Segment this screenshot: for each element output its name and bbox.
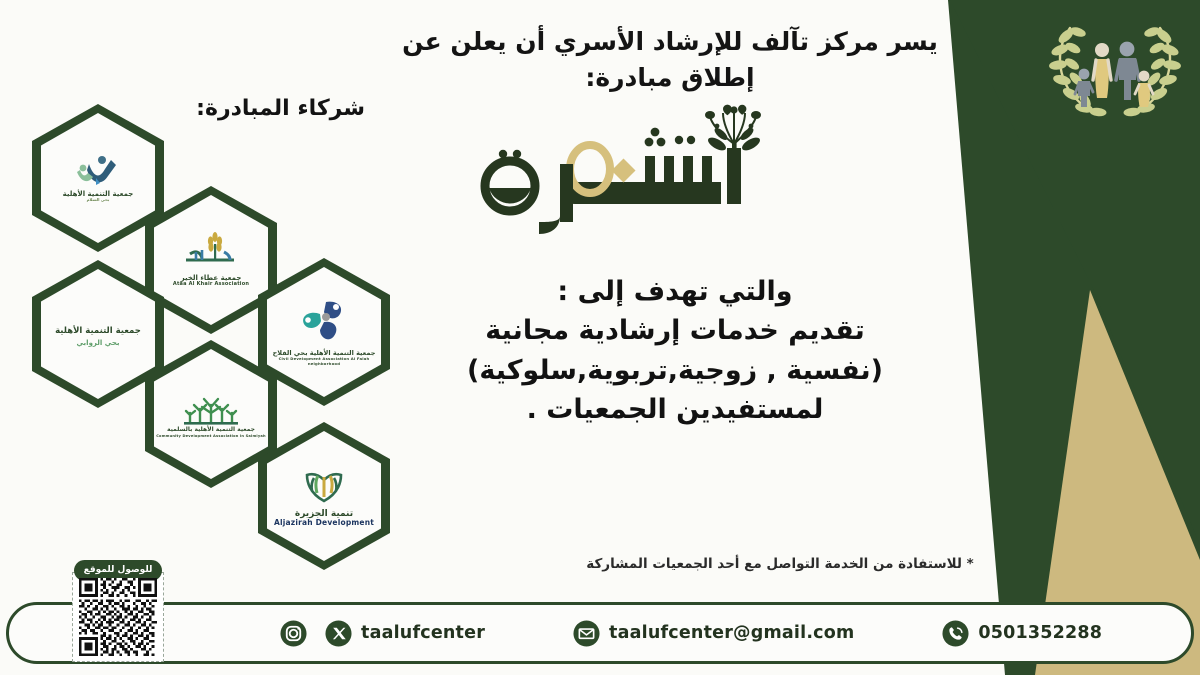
email-address: taalufcenter@gmail.com — [609, 623, 854, 643]
logo-letter-alif — [727, 148, 741, 204]
three-figures-icon — [296, 298, 352, 348]
headline: يسر مركز تآلف للإرشاد الأسري أن يعلن عن … — [380, 24, 960, 95]
body-line-1: والتي تهدف إلى : — [420, 272, 930, 311]
partner-hexagon-ataa-alkhair[interactable]: جمعية عطاء الخير Ataa Al Khair Associati… — [145, 186, 277, 334]
footer-contacts: taalufcenter taalufcenter@gmail.com 0501… — [280, 604, 1110, 662]
qr-code-icon[interactable] — [78, 578, 158, 656]
partner-name: جمعية التنمية الأهلية بالسلمية Community… — [156, 427, 266, 438]
contact-phone[interactable]: 0501352288 — [942, 620, 1102, 647]
instagram-icon — [280, 620, 307, 647]
people-figures-icon — [71, 154, 125, 188]
initiative-logo — [455, 104, 815, 239]
email-icon — [573, 620, 600, 647]
partner-hexagon-jamiyat-tanmiya-ahliya[interactable]: جمعية التنمية الأهلية بحي السلام — [32, 104, 164, 252]
phone-number: 0501352288 — [978, 623, 1102, 643]
family-figures-icon — [1075, 42, 1153, 107]
body-line-2: تقديم خدمات إرشادية مجانية — [420, 311, 930, 350]
partner-hexagon-rawabi[interactable]: جمعية التنمية الأهلية بحي الروابي — [32, 260, 164, 408]
logo-gold-diamond — [611, 158, 635, 182]
logo-ra-tail — [539, 216, 560, 234]
wheat-stalk-icon — [182, 232, 240, 272]
poster-canvas: يسر مركز تآلف للإرشاد الأسري أن يعلن عن … — [0, 0, 1200, 675]
body-text: والتي تهدف إلى : تقديم خدمات إرشادية مجا… — [420, 272, 930, 430]
partner-name: جمعية التنمية الأهلية بحي الفلاح Civil D… — [267, 350, 381, 366]
logo-letter-teeth — [645, 156, 712, 184]
partner-name: جمعية التنمية الأهلية بحي السلام — [63, 190, 134, 203]
contact-x-twitter[interactable]: taalufcenter — [325, 620, 485, 647]
family-laurel-emblem — [1040, 8, 1190, 126]
logo-letter-ta-marbuta — [485, 161, 535, 211]
partner-name: جمعية التنمية الأهلية بحي الروابي — [55, 327, 141, 348]
partner-name: جمعية عطاء الخير Ataa Al Khair Associati… — [173, 274, 249, 288]
partners-hexagon-cluster: جمعية التنمية الأهلية بحي السلام — [18, 100, 408, 570]
body-line-3: (نفسية , زوجية,تربوية,سلوكية) — [420, 351, 930, 390]
partner-hexagon-salmiya[interactable]: جمعية التنمية الأهلية بالسلمية Community… — [145, 340, 277, 488]
partner-name: تنمية الجزيرة Aljazirah Development — [274, 509, 374, 528]
logo-diacritic-dots — [645, 128, 696, 147]
wheat-heart-icon — [299, 465, 349, 507]
headline-line-2: إطلاق مبادرة: — [380, 60, 960, 96]
phone-icon — [942, 620, 969, 647]
partner-hexagon-aljazirah[interactable]: تنمية الجزيرة Aljazirah Development — [258, 422, 390, 570]
x-twitter-icon — [325, 620, 352, 647]
contact-email[interactable]: taalufcenter@gmail.com — [573, 620, 854, 647]
tree-hands-icon — [180, 389, 242, 425]
partner-hexagon-al-falah[interactable]: جمعية التنمية الأهلية بحي الفلاح Civil D… — [258, 258, 390, 406]
contact-instagram[interactable] — [280, 620, 307, 647]
body-line-4: لمستفيدين الجمعيات . — [420, 390, 930, 429]
logo-letter-ra — [560, 164, 573, 222]
footnote: * للاستفادة من الخدمة التواصل مع أحد الج… — [560, 556, 1000, 572]
headline-line-1: يسر مركز تآلف للإرشاد الأسري أن يعلن عن — [380, 24, 960, 60]
x-handle: taalufcenter — [361, 623, 485, 643]
